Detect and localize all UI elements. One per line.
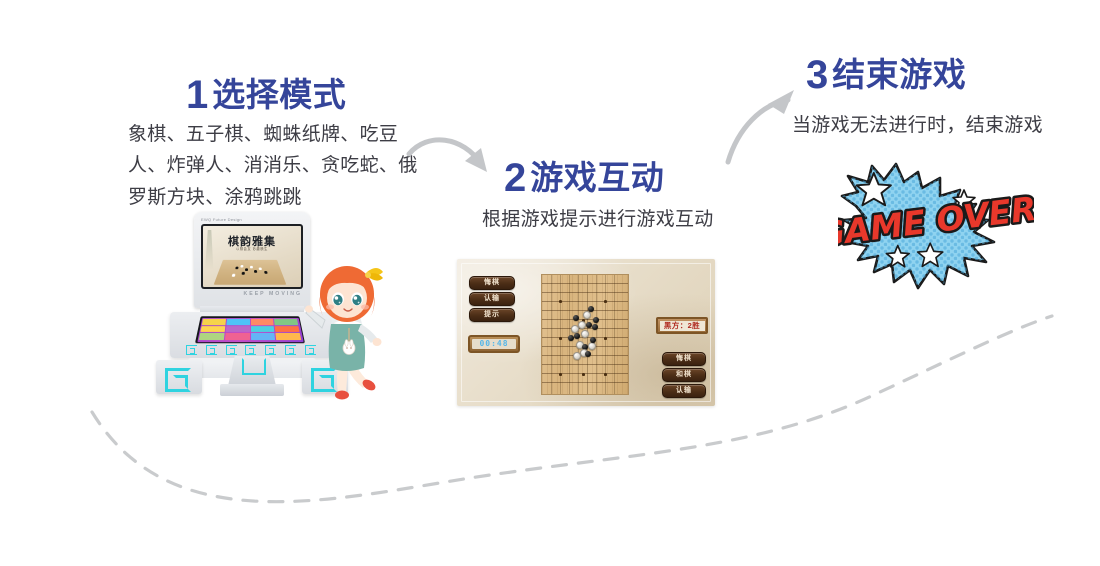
infographic-canvas: 1选择模式 象棋、五子棋、蜘蛛纸牌、吃豆人、炸弹人、消消乐、贪吃蛇、俄罗斯方块、… (0, 0, 1100, 566)
kiosk-screen-subtitle: 以棋会友 妙趣横生 (203, 246, 301, 251)
kiosk-goban-graphic (214, 260, 287, 285)
kiosk-upper-screen: 棋韵雅集 以棋会友 妙趣横生 (201, 224, 303, 289)
step-3-description: 当游戏无法进行时，结束游戏 (792, 110, 1092, 141)
step-3-number: 3 (806, 53, 828, 97)
game-left-button-1[interactable]: 悔棋 (469, 276, 515, 290)
game-draw-button[interactable]: 和棋 (662, 368, 706, 382)
game-over-graphic: GAME OVER! (838, 162, 1034, 298)
step-2-heading: 2游戏互动 (504, 158, 664, 198)
game-selection-grid[interactable] (197, 318, 303, 342)
spiral-trim-icon (165, 368, 191, 392)
step-1-heading: 1选择模式 (186, 75, 346, 115)
pedestal-trim-icon (242, 358, 266, 375)
step-1-description: 象棋、五子棋、蜘蛛纸牌、吃豆人、炸弹人、消消乐、贪吃蛇、俄罗斯方块、涂鸦跳跳 (128, 119, 428, 213)
game-timer-value: 00:48 (472, 339, 516, 349)
kiosk-bezel-label: KEEP MOVING (194, 291, 302, 297)
game-board[interactable] (541, 274, 629, 395)
go-game-screenshot: 悔棋 认输 提示 00:48 (457, 259, 715, 406)
step-2-number: 2 (504, 156, 526, 200)
arrow-step1-to-step2 (405, 130, 511, 196)
game-score-label: 黑方：2胜 (660, 321, 705, 331)
girl-character-illustration (305, 262, 391, 404)
step-1-title: 选择模式 (212, 76, 346, 113)
step-2-description: 根据游戏提示进行游戏互动 (482, 204, 802, 235)
step-2-title: 游戏互动 (530, 159, 664, 196)
step-3-title: 结束游戏 (832, 56, 966, 93)
step-1-number: 1 (186, 73, 208, 117)
kiosk-greek-key-trim (182, 345, 320, 355)
kiosk-monitor-frame: EWQ Future Design 棋韵雅集 以棋会友 妙趣横生 (194, 212, 310, 308)
game-left-button-3[interactable]: 提示 (469, 308, 515, 322)
game-score-panel: 黑方：2胜 (656, 317, 708, 334)
game-undo-button[interactable]: 悔棋 (662, 352, 706, 366)
game-resign-button[interactable]: 认输 (662, 384, 706, 398)
step-3-heading: 3结束游戏 (806, 55, 966, 95)
game-left-button-2[interactable]: 认输 (469, 292, 515, 306)
kiosk-brand-label: EWQ Future Design (201, 217, 242, 222)
kiosk-foot (220, 384, 284, 396)
kiosk-touch-screen[interactable] (195, 316, 305, 343)
game-timer: 00:48 (468, 335, 520, 353)
kiosk-left-base (156, 360, 202, 394)
